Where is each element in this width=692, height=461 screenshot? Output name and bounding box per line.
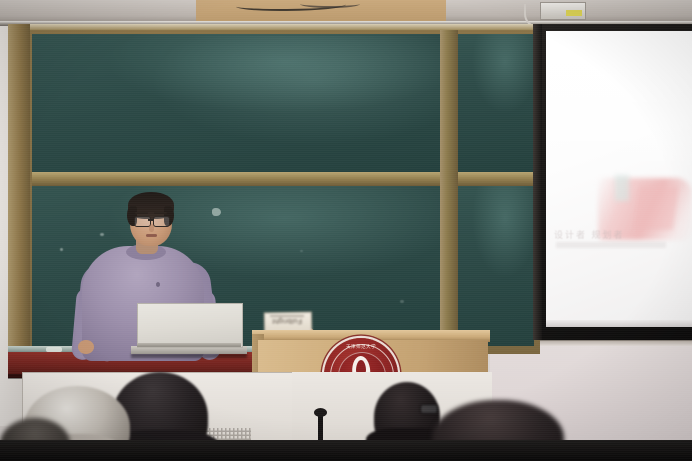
chalk-smudge-icon — [212, 208, 221, 216]
projection-screen-bottom-edge — [546, 320, 692, 327]
chalk-dot-icon — [100, 233, 104, 236]
slide-graphic-secondary — [633, 186, 679, 230]
microphone-head-icon — [314, 408, 327, 417]
chalk-dot-icon — [300, 250, 303, 252]
classroom-photo: 设计者 规划者 Fulbright 天津师范大学 TIANJIN NORMAL … — [0, 0, 692, 461]
chalkboard-panel-bottom-right — [458, 186, 534, 346]
chalkboard-vertical-divider — [440, 30, 458, 350]
chalk-dot-icon — [400, 300, 404, 303]
chalkboard-left-post — [8, 24, 30, 354]
laptop-lid[interactable] — [137, 303, 243, 348]
foreground-dark-band — [0, 440, 692, 461]
chalkboard-horizontal-divider-right — [458, 172, 534, 186]
eyeglasses-icon — [153, 216, 170, 227]
eyeglasses-bridge-icon — [148, 219, 154, 221]
projection-screen-glare — [546, 31, 692, 181]
mount-box-label — [566, 10, 582, 16]
chalkboard-glare — [150, 36, 450, 146]
speaker-eyebrow-left — [135, 212, 148, 214]
speaker-eyebrow-right — [154, 212, 167, 214]
laptop-lid-edge — [137, 343, 241, 347]
projection-screen-frame-left — [533, 24, 542, 340]
chalkboard-panel-top-right — [458, 34, 534, 172]
chalkboard-frame-highlight — [8, 24, 540, 30]
speaker-mouth — [146, 234, 157, 237]
name-card-label: Fulbright — [264, 317, 310, 324]
speaker-hand — [78, 340, 94, 354]
chalkboard-horizontal-divider — [32, 172, 440, 186]
audience-eyeglasses-icon — [420, 404, 438, 414]
ceiling-cable-secondary-icon — [300, 0, 360, 8]
seal-top-text: 天津师范大学 — [330, 344, 392, 350]
slide-subtext — [556, 242, 666, 248]
speaker-nose — [149, 224, 154, 232]
chalk-dot-icon — [60, 248, 63, 251]
sweater-logo-icon — [156, 282, 160, 287]
